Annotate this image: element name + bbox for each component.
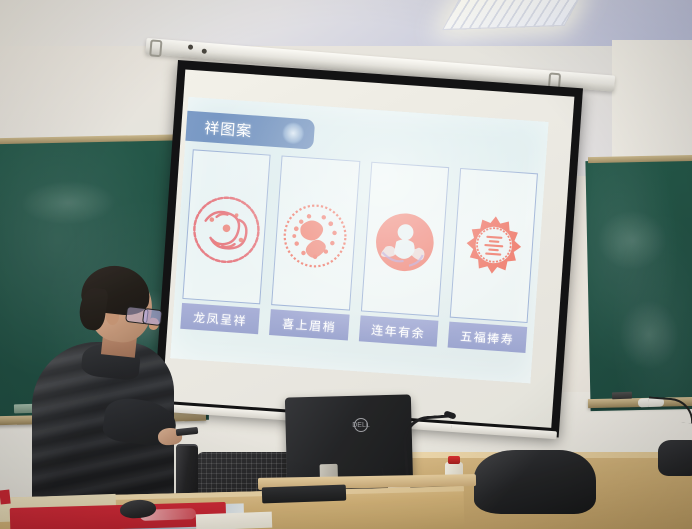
papercut-card [449,168,538,323]
papercut-art-child-fish-icon [361,169,447,316]
chalk-smudge [20,180,117,226]
roller-screw-icon [188,44,193,49]
papercut-art-dragon-phoenix-icon [183,156,269,303]
projection-screen: 祥图案 [154,60,583,437]
dark-object [658,440,692,476]
classroom-photo-scene: 祥图案 [0,0,692,529]
roller-screw-icon [202,48,207,53]
slide-title-banner: 祥图案 [177,110,315,149]
eyeglass-lens [142,308,163,326]
dell-logo-icon: DELL [354,418,368,432]
slide-title-text: 祥图案 [204,117,253,141]
papercut-art-magpie-plum-icon [272,163,358,310]
fluorescent-panel-light-icon [442,0,582,30]
presenter [18,268,178,529]
papercut-art-longevity-bats-icon [451,175,537,322]
projected-slide: 祥图案 [170,97,548,384]
papercut-card [360,162,449,317]
chalk-smudge [618,299,679,370]
eyeglasses-icon [125,306,163,325]
papercut-label: 龙凤呈祥 [180,303,260,334]
papercut-label: 五福捧寿 [447,322,527,353]
papercut-label: 连年有余 [358,315,438,346]
title-ornament-icon [281,121,304,144]
roller-bracket-icon [149,39,162,57]
chalk-box-icon [612,392,632,400]
red-clip-icon [0,490,11,505]
keyboard [262,485,347,504]
chalk-smudge [596,209,667,270]
chalkboard-right [585,159,692,411]
papercut-label: 喜上眉梢 [269,309,349,340]
papercut-card [271,155,360,310]
backpack [474,450,596,514]
paper-sheet [196,512,273,529]
papercut-card [182,149,271,304]
papercut-card-row [182,149,538,323]
